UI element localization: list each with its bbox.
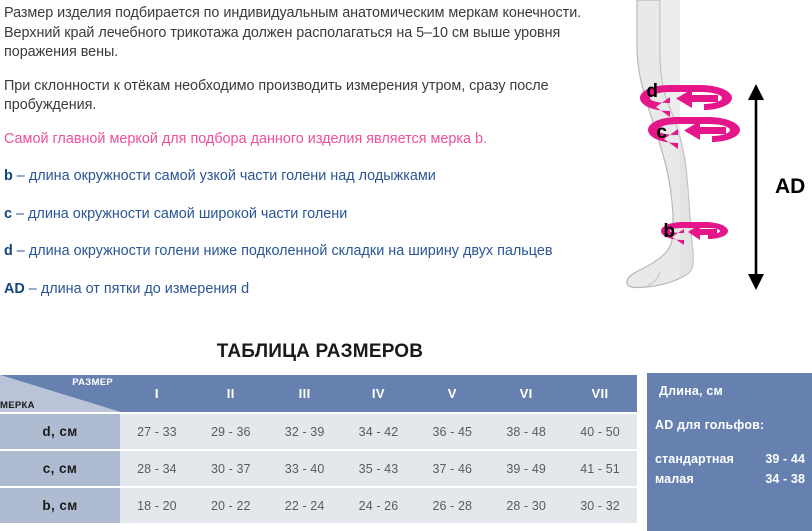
size-table-header-row: РАЗМЕР МЕРКА I II III IV V VI VII xyxy=(0,375,637,412)
row-label-d: d, см xyxy=(0,414,120,449)
side-panel-row-standard-value: 39 - 44 xyxy=(765,452,805,466)
table-corner-cell: РАЗМЕР МЕРКА xyxy=(0,375,120,412)
row-label-b: b, см xyxy=(0,488,120,523)
corner-size-label: РАЗМЕР xyxy=(72,377,113,388)
figure-label-b: b xyxy=(663,221,675,242)
leg-measurement-diagram: d c b AD xyxy=(600,0,812,340)
cell-c-5: 37 - 46 xyxy=(415,451,489,486)
cell-d-3: 32 - 39 xyxy=(268,414,342,449)
column-header-6: VI xyxy=(489,375,563,412)
figure-label-ad: AD xyxy=(775,175,805,198)
measurement-dash-d: – xyxy=(17,243,25,259)
cell-c-7: 41 - 51 xyxy=(563,451,637,486)
cell-d-1: 27 - 33 xyxy=(120,414,194,449)
ad-dimension-arrow-icon xyxy=(748,84,764,290)
figure-label-d: d xyxy=(646,81,658,102)
measurement-line-ad: AD – длина от пятки до измерения d xyxy=(4,280,604,300)
side-panel-row-standard-name: стандартная xyxy=(655,452,734,466)
measurement-line-d: d – длина окружности голени ниже подколе… xyxy=(4,242,604,262)
leg-silhouette-icon xyxy=(627,0,693,288)
intro-paragraph-2: При склонности к отёкам необходимо произ… xyxy=(4,77,604,116)
measurement-line-c: c – длина окружности самой широкой части… xyxy=(4,205,604,225)
table-row: с, см 28 - 34 30 - 37 33 - 40 35 - 43 37… xyxy=(0,451,637,486)
cell-b-7: 30 - 32 xyxy=(563,488,637,523)
side-panel-row-small-value: 34 - 38 xyxy=(765,472,805,486)
cell-b-2: 20 - 22 xyxy=(194,488,268,523)
table-row: b, см 18 - 20 20 - 22 22 - 24 24 - 26 26… xyxy=(0,488,637,523)
side-panel-row-small: малая 34 - 38 xyxy=(655,472,807,486)
measurement-key-ad: AD xyxy=(4,281,25,297)
column-header-4: IV xyxy=(342,375,416,412)
corner-merka-label: МЕРКА xyxy=(0,400,35,411)
column-header-1: I xyxy=(120,375,194,412)
measurement-dash-ad: – xyxy=(29,281,37,297)
measurement-key-b: b xyxy=(4,168,13,184)
cell-b-1: 18 - 20 xyxy=(120,488,194,523)
size-table-title: ТАБЛИЦА РАЗМЕРОВ xyxy=(0,341,640,363)
cell-d-2: 29 - 36 xyxy=(194,414,268,449)
measurement-line-b: b – длина окружности самой узкой части г… xyxy=(4,167,604,187)
cell-b-3: 22 - 24 xyxy=(268,488,342,523)
cell-d-4: 34 - 42 xyxy=(342,414,416,449)
column-header-2: II xyxy=(194,375,268,412)
cell-b-6: 28 - 30 xyxy=(489,488,563,523)
column-header-7: VII xyxy=(563,375,637,412)
cell-c-2: 30 - 37 xyxy=(194,451,268,486)
intro-paragraph-1: Размер изделия подбирается по индивидуал… xyxy=(4,4,604,63)
figure-label-c: c xyxy=(656,122,667,143)
cell-c-6: 39 - 49 xyxy=(489,451,563,486)
column-header-3: III xyxy=(268,375,342,412)
size-table: РАЗМЕР МЕРКА I II III IV V VI VII d, см … xyxy=(0,373,637,525)
cell-c-3: 33 - 40 xyxy=(268,451,342,486)
cell-b-4: 24 - 26 xyxy=(342,488,416,523)
side-panel-subtitle: AD для гольфов: xyxy=(655,418,764,432)
description-text-column: Размер изделия подбирается по индивидуал… xyxy=(4,4,604,299)
cell-d-7: 40 - 50 xyxy=(563,414,637,449)
measurement-key-d: d xyxy=(4,243,13,259)
side-panel-row-standard: стандартная 39 - 44 xyxy=(655,452,807,466)
side-panel-row-small-name: малая xyxy=(655,472,694,486)
measurement-key-c: c xyxy=(4,206,12,222)
cell-c-1: 28 - 34 xyxy=(120,451,194,486)
highlight-note: Самой главной меркой для подбора данного… xyxy=(4,130,604,150)
side-panel-title: Длина, см xyxy=(659,384,723,398)
cell-d-5: 36 - 45 xyxy=(415,414,489,449)
cell-b-5: 26 - 28 xyxy=(415,488,489,523)
measurement-dash-c: – xyxy=(16,206,24,222)
column-header-5: V xyxy=(415,375,489,412)
row-label-c: с, см xyxy=(0,451,120,486)
measurement-text-ad: длина от пятки до измерения d xyxy=(41,281,249,297)
cell-c-4: 35 - 43 xyxy=(342,451,416,486)
table-row: d, см 27 - 33 29 - 36 32 - 39 34 - 42 36… xyxy=(0,414,637,449)
measurement-text-b: длина окружности самой узкой части голен… xyxy=(29,168,436,184)
cell-d-6: 38 - 48 xyxy=(489,414,563,449)
length-side-panel: Длина, см AD для гольфов: стандартная 39… xyxy=(647,373,812,531)
measurement-text-d: длина окружности голени ниже подколенной… xyxy=(29,243,553,259)
measurement-text-c: длина окружности самой широкой части гол… xyxy=(28,206,347,222)
size-table-region: РАЗМЕР МЕРКА I II III IV V VI VII d, см … xyxy=(0,373,812,531)
measurement-dash-b: – xyxy=(17,168,25,184)
